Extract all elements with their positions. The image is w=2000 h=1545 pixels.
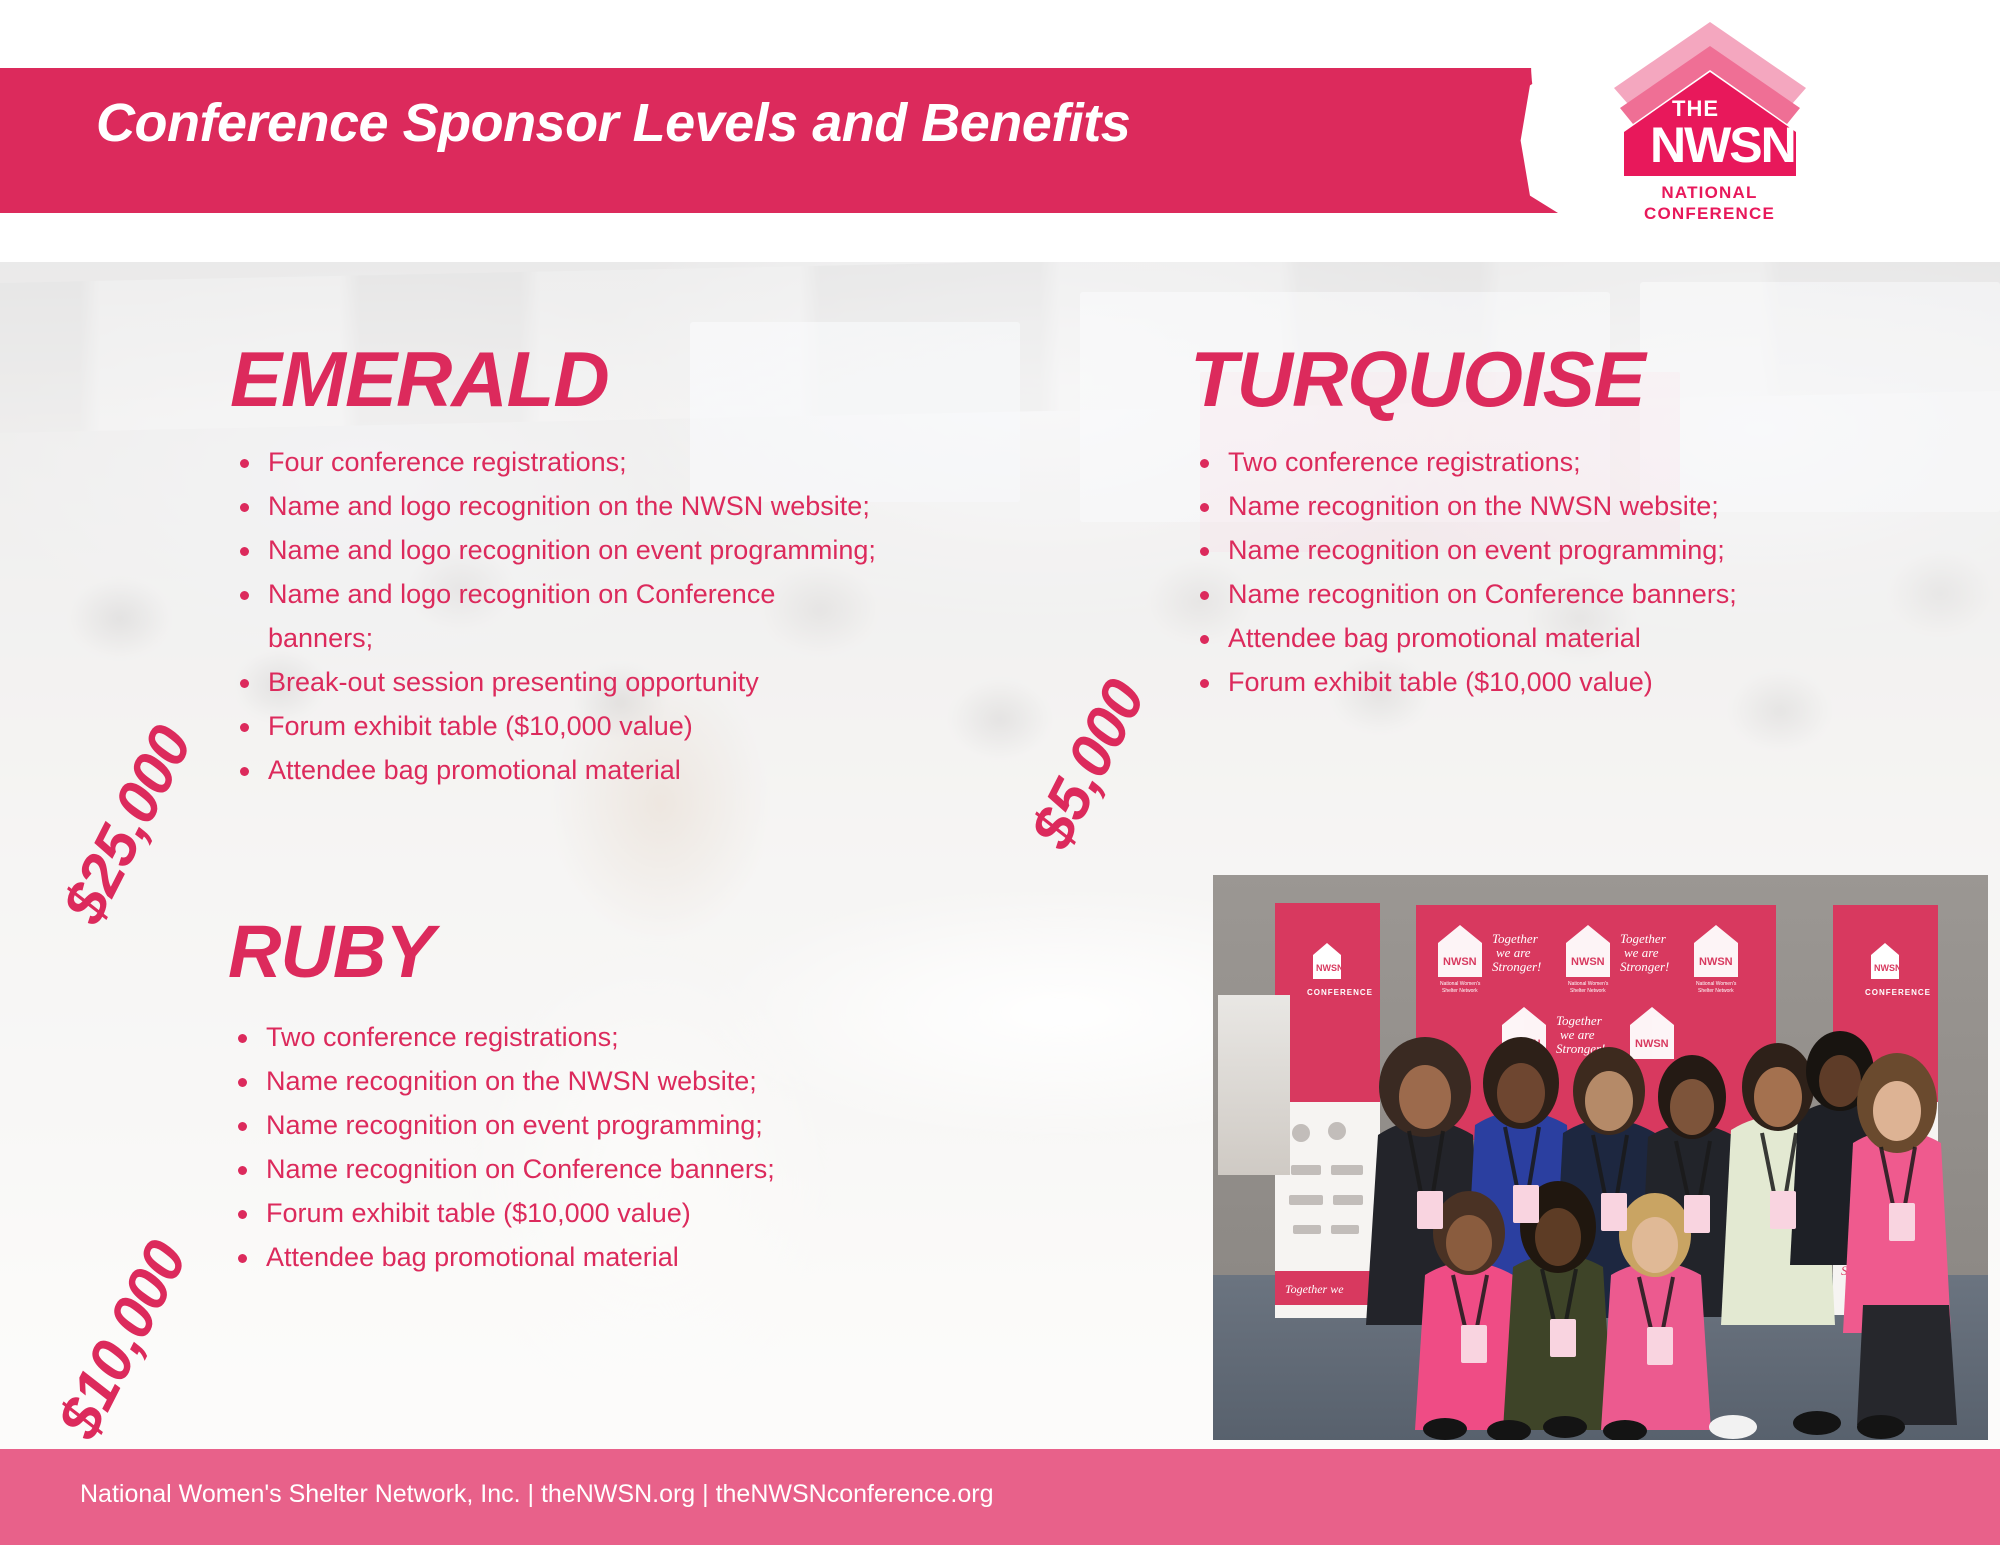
house-roof-logo-icon: THE NWSN [1610, 20, 1810, 190]
footer-text: National Women's Shelter Network, Inc. |… [80, 1480, 994, 1509]
benefit-item: Two conference registrations; [1190, 440, 1980, 484]
benefit-item: Name recognition on Conference banners; [1190, 572, 1980, 616]
tier-turquoise-benefits: Two conference registrations; Name recog… [1190, 440, 1980, 704]
benefit-item: Name and logo recognition on Conference [230, 572, 1110, 616]
photo-people [1213, 875, 1988, 1440]
nwsn-logo-badge: THE NWSN NATIONAL CONFERENCE [1531, 6, 1888, 241]
logo-subtitle-line1: NATIONAL [1531, 182, 1888, 203]
benefit-item-continuation: banners; [230, 616, 1110, 660]
benefit-item: Name and logo recognition on the NWSN we… [230, 484, 1110, 528]
tier-turquoise-title: TURQUOISE [1190, 340, 1980, 418]
tier-ruby-benefits: Two conference registrations; Name recog… [228, 1015, 1108, 1279]
benefit-item: Forum exhibit table ($10,000 value) [1190, 660, 1980, 704]
page-title: Conference Sponsor Levels and Benefits [96, 92, 1130, 154]
group-photo: NWSNNWSNNWSN NWSNNWSN Togetherwe areStro… [1213, 875, 1988, 1440]
benefit-item: Forum exhibit table ($10,000 value) [230, 704, 1110, 748]
benefit-item: Break-out session presenting opportunity [230, 660, 1110, 704]
tier-ruby-title: RUBY [228, 915, 1108, 989]
tier-turquoise: TURQUOISE Two conference registrations; … [1190, 340, 1980, 704]
benefit-item: Name recognition on event programming; [228, 1103, 1108, 1147]
benefit-item: Forum exhibit table ($10,000 value) [228, 1191, 1108, 1235]
tier-emerald-benefits: Four conference registrations; Name and … [230, 440, 1110, 792]
benefit-item: Name recognition on the NWSN website; [228, 1059, 1108, 1103]
benefit-item: Attendee bag promotional material [230, 748, 1110, 792]
benefit-item: Attendee bag promotional material [228, 1235, 1108, 1279]
benefit-item: Attendee bag promotional material [1190, 616, 1980, 660]
poster-page: Conference Sponsor Levels and Benefits T… [0, 0, 2000, 1545]
benefit-item: Name and logo recognition on event progr… [230, 528, 1110, 572]
tier-emerald-title: EMERALD [230, 340, 1110, 418]
benefit-item: Four conference registrations; [230, 440, 1110, 484]
tier-emerald: EMERALD Four conference registrations; N… [230, 340, 1110, 792]
benefit-item: Name recognition on Conference banners; [228, 1147, 1108, 1191]
benefit-item: Name recognition on event programming; [1190, 528, 1980, 572]
logo-subtitle: NATIONAL CONFERENCE [1531, 182, 1888, 224]
logo-subtitle-line2: CONFERENCE [1531, 203, 1888, 224]
svg-text:NWSN: NWSN [1650, 117, 1795, 173]
tier-ruby: RUBY Two conference registrations; Name … [228, 915, 1108, 1279]
benefit-item: Name recognition on the NWSN website; [1190, 484, 1980, 528]
benefit-item: Two conference registrations; [228, 1015, 1108, 1059]
